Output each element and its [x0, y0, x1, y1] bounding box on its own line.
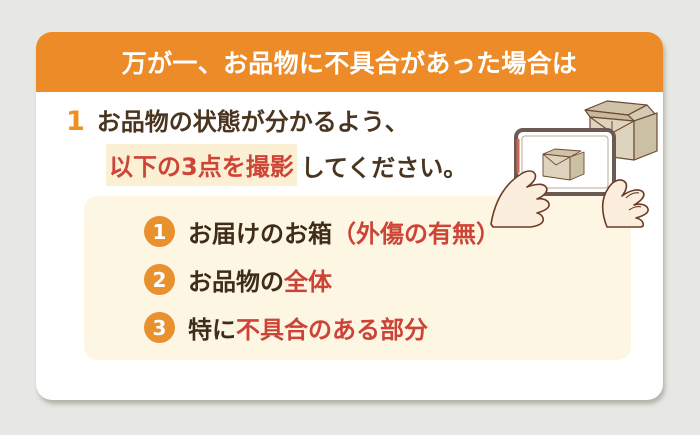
step-line-second: 以下の3点を撮影 してください。: [106, 144, 586, 186]
step-number: 1: [66, 106, 85, 137]
list-item-badge: 2: [144, 264, 175, 295]
list-item-badge: 1: [144, 216, 175, 247]
step-highlighted-phrase: 以下の3点を撮影: [106, 144, 297, 186]
list-item-text-emphasis: 全体: [284, 268, 332, 296]
list-item-badge: 3: [144, 312, 175, 343]
photo-checklist-panel: 1 お届けのお箱（外傷の有無） 2 お品物の全体 3 特に不具合のある部分: [84, 196, 631, 360]
step-instruction-line-1: お品物の状態が分かるよう、: [97, 102, 409, 137]
list-item-text-emphasis: 不具合のある部分: [236, 316, 428, 344]
list-item-text-plain: お届けのお箱: [188, 220, 332, 248]
card-header: 万が一、お品物に不具合があった場合は: [36, 32, 663, 92]
list-item-text-plain: 特に: [188, 316, 236, 344]
page-title: 万が一、お品物に不具合があった場合は: [122, 44, 577, 80]
list-item-label: 特に不具合のある部分: [188, 310, 428, 345]
instruction-card: 万が一、お品物に不具合があった場合は 1 お品物の状態が分かるよう、 以下の3点…: [36, 32, 663, 400]
list-item-text-plain: お品物の: [188, 268, 284, 296]
step-instruction-suffix: してください。: [301, 148, 468, 183]
list-item: 2 お品物の全体: [144, 262, 332, 297]
list-item: 1 お届けのお箱（外傷の有無）: [144, 214, 500, 249]
list-item-text-emphasis: （外傷の有無）: [332, 220, 500, 248]
list-item: 3 特に不具合のある部分: [144, 310, 428, 345]
step-line-first: 1 お品物の状態が分かるよう、: [66, 102, 586, 137]
page-root: 万が一、お品物に不具合があった場合は 1 お品物の状態が分かるよう、 以下の3点…: [0, 0, 700, 435]
step-one-block: 1 お品物の状態が分かるよう、 以下の3点を撮影 してください。: [66, 102, 586, 186]
list-item-label: お品物の全体: [188, 262, 332, 297]
list-item-label: お届けのお箱（外傷の有無）: [188, 214, 500, 249]
